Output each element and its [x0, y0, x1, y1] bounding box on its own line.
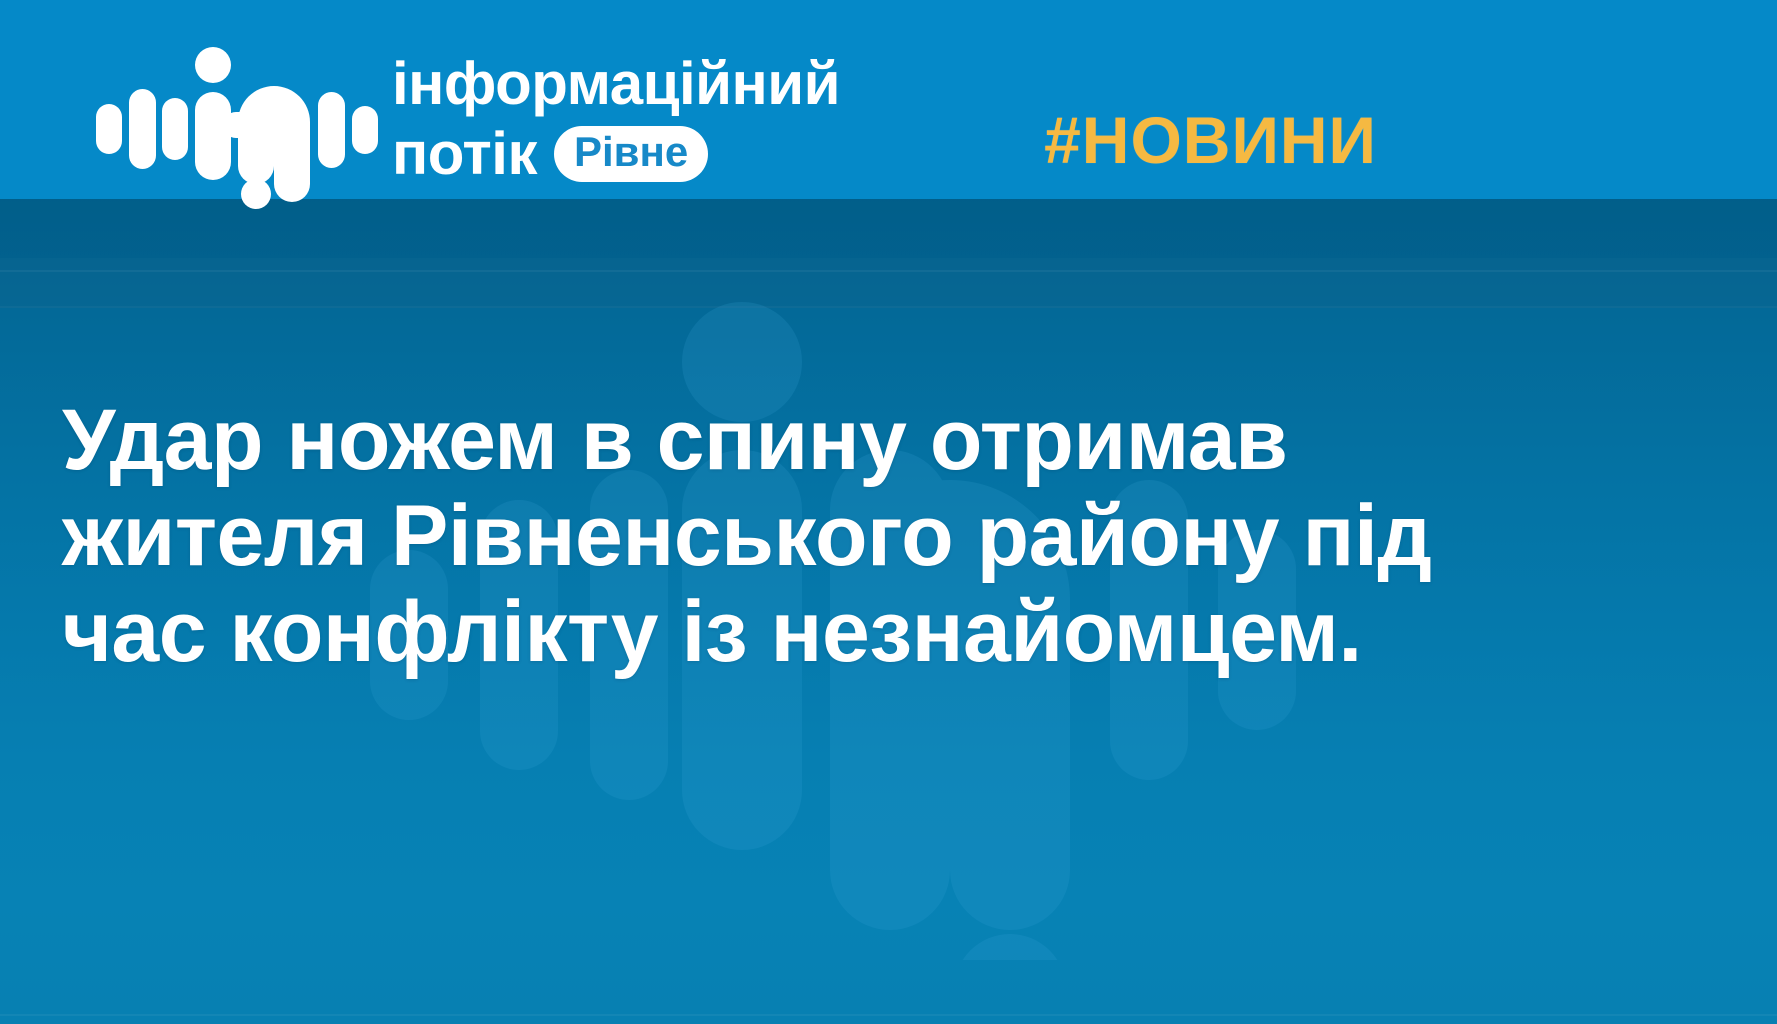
background-hairline-3	[0, 1014, 1777, 1016]
headline-line: жителя Рівненського району під	[62, 488, 1722, 584]
city-badge[interactable]: Рівне	[554, 126, 708, 182]
brand-wordmark[interactable]: інформаційний потік Рівне	[392, 54, 1012, 184]
brand-name-line-2: потік	[392, 124, 537, 184]
brand-name-line-1: інформаційний	[392, 54, 1012, 114]
background-band-secondary	[0, 258, 1777, 306]
news-card: інформаційний потік Рівне #НОВИНИ Удар н…	[0, 0, 1777, 1024]
headline-line: Удар ножем в спину отримав	[62, 392, 1722, 488]
news-hashtag[interactable]: #НОВИНИ	[1044, 105, 1377, 175]
soundwave-logo-icon[interactable]	[96, 44, 382, 194]
background-hairline-1	[0, 270, 1777, 272]
article-headline: Удар ножем в спину отримав жителя Рівнен…	[62, 392, 1722, 680]
headline-line: час конфлікту із незнайомцем.	[62, 584, 1722, 680]
header-bar: інформаційний потік Рівне #НОВИНИ	[0, 0, 1777, 199]
